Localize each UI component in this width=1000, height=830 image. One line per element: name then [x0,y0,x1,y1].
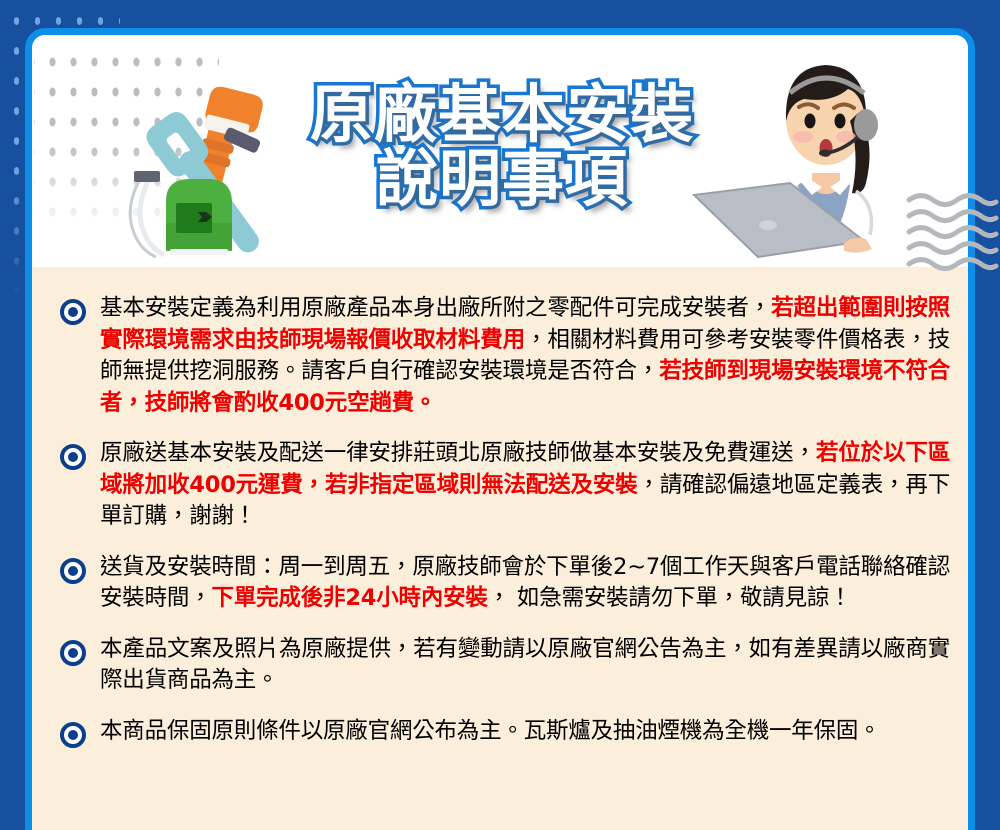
note-item: 基本安裝定義為利用原廠產品本身出廠所附之零配件可完成安裝者，若超出範圍則按照實際… [50,293,950,419]
highlighted-text: 下單完成後非24小時內安裝 [212,585,488,611]
notes-body: 基本安裝定義為利用原廠產品本身出廠所附之零配件可完成安裝者，若超出範圍則按照實際… [32,267,968,830]
plain-text: 原廠送基本安裝及配送一律安排莊頭北原廠技師做基本安裝及免費運送， [100,440,816,466]
note-item: 本產品文案及照片為原廠提供，若有變動請以原廠官網公告為主，如有差異請以廠商實際出… [50,634,950,697]
title-line-1: 原廠基本安裝 [267,83,737,147]
plain-text: 本商品保固原則條件以原廠官網公布為主。瓦斯爐及抽油煙機為全機一年保固。 [100,718,881,744]
wavy-lines-icon [905,190,1000,272]
note-text-3: 送貨及安裝時間：周一到周五，原廠技師會於下單後2~7個工作天與客戶電話聯絡確認安… [100,552,950,615]
bullseye-bullet-icon [60,558,86,584]
bullseye-bullet-icon [60,299,86,325]
note-text-5: 本商品保固原則條件以原廠官網公布為主。瓦斯爐及抽油煙機為全機一年保固。 [100,716,950,748]
bullseye-bullet-icon [60,444,86,470]
banner-header: 原廠基本安裝 說明事項 [32,35,968,267]
installation-notice-banner: 原廠基本安裝 說明事項 [0,0,1000,830]
plain-text: 本產品文案及照片為原廠提供，若有變動請以原廠官網公告為主，如有差異請以廠商實際出… [100,636,950,694]
note-text-1: 基本安裝定義為利用原廠產品本身出廠所附之零配件可完成安裝者，若超出範圍則按照實際… [100,293,950,419]
bullseye-bullet-icon [60,722,86,748]
note-item: 本商品保固原則條件以原廠官網公布為主。瓦斯爐及抽油煙機為全機一年保固。 [50,716,950,748]
page-title: 原廠基本安裝 說明事項 [267,83,737,210]
note-text-2: 原廠送基本安裝及配送一律安排莊頭北原廠技師做基本安裝及免費運送，若位於以下區域將… [100,438,950,533]
note-item: 送貨及安裝時間：周一到周五，原廠技師會於下單後2~7個工作天與客戶電話聯絡確認安… [50,552,950,615]
note-item: 原廠送基本安裝及配送一律安排莊頭北原廠技師做基本安裝及免費運送，若位於以下區域將… [50,438,950,533]
bullseye-bullet-icon [60,640,86,666]
title-line-2: 說明事項 [267,147,737,210]
note-text-4: 本產品文案及照片為原廠提供，若有變動請以原廠官網公告為主，如有差異請以廠商實際出… [100,634,950,697]
plain-text: ， 如急需安裝請勿下單，敬請見諒！ [488,585,852,611]
plain-text: 基本安裝定義為利用原廠產品本身出廠所附之零配件可完成安裝者， [100,295,771,321]
content-card: 原廠基本安裝 說明事項 [25,28,975,830]
